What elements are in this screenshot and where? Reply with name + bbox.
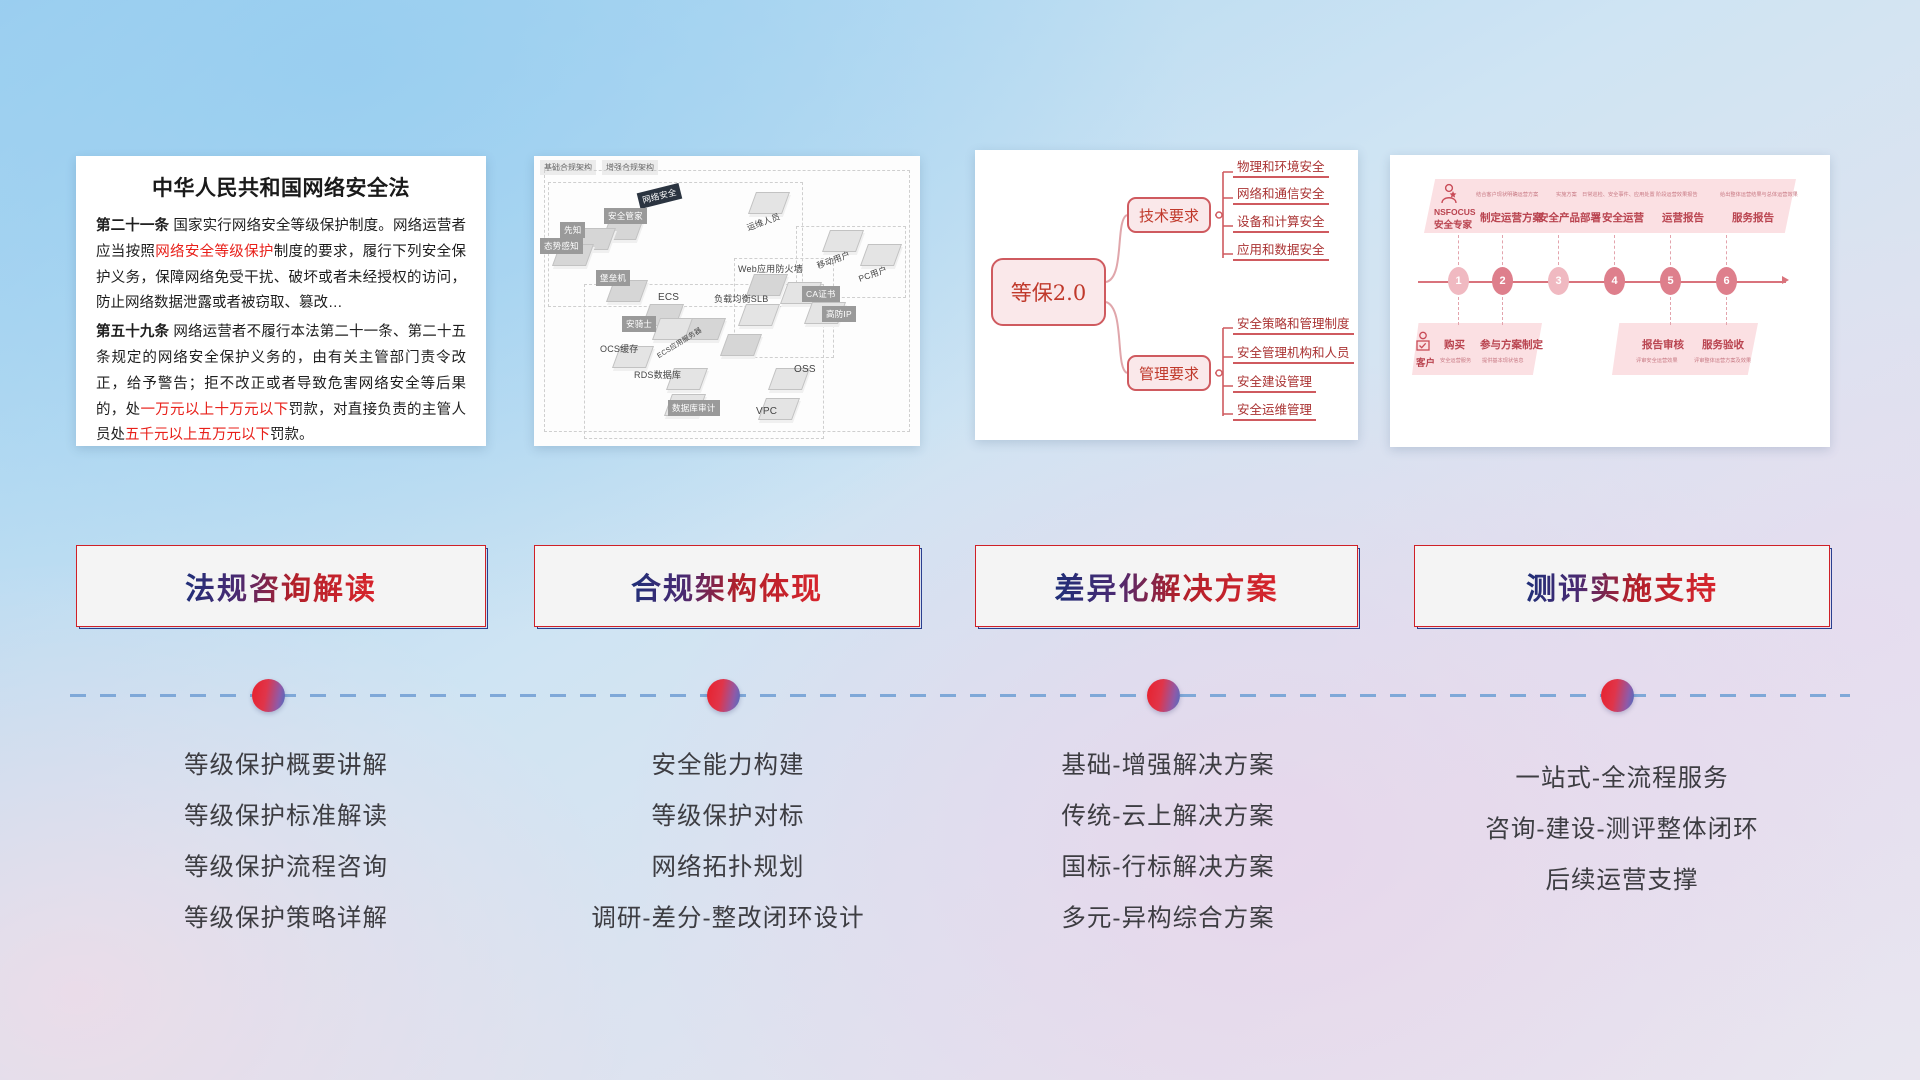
- timeline-step-dot-5[interactable]: 5: [1660, 267, 1681, 295]
- mindmap-leaf-mgmt-2[interactable]: 安全管理机构和人员: [1233, 342, 1354, 364]
- mindmap-root[interactable]: 等保2.0: [991, 258, 1106, 326]
- feature-item: 后续运营支撑: [1406, 855, 1838, 906]
- connector-3: [1558, 235, 1559, 265]
- article-59-highlight-a: 一万元以上十万元以下: [140, 402, 288, 418]
- bottom-item-2-sub: 提供基本现状信息: [1482, 357, 1524, 364]
- card-service-timeline[interactable]: NSFOCUS 安全专家 结合客户现状明确运营方案 制定运营方案 实施方案 安全…: [1390, 155, 1830, 447]
- feature-columns: 等级保护概要讲解 等级保护标准解读 等级保护流程咨询 等级保护策略详解 安全能力…: [0, 740, 1920, 1040]
- node-label-waf: Web应用防火墙: [734, 260, 807, 277]
- article-21-highlight: 网络安全等级保护: [155, 244, 274, 260]
- node-label-security-butler: 安全管家: [604, 208, 647, 224]
- bottom-item-1-title: 购买: [1444, 337, 1465, 352]
- service-timeline-canvas: NSFOCUS 安全专家 结合客户现状明确运营方案 制定运营方案 实施方案 安全…: [1390, 155, 1830, 447]
- section-title-row: 法规咨询解读 合规架构体现 差异化解决方案 测评实施支持: [0, 545, 1920, 645]
- node-label-ecs: ECS: [654, 290, 683, 305]
- title-box-regulation-consulting[interactable]: 法规咨询解读: [76, 545, 486, 627]
- connector-b6: [1726, 297, 1727, 325]
- node-label-anqishi: 安骑士: [622, 316, 656, 332]
- node-label-vpc: VPC: [752, 404, 781, 419]
- connector-4: [1614, 235, 1615, 265]
- step-3-title: 安全产品部署: [1538, 210, 1601, 225]
- provider-name: NSFOCUS: [1434, 207, 1476, 217]
- node-label-slb: 负载均衡SLB: [710, 290, 772, 307]
- connector-6: [1726, 235, 1727, 265]
- feature-item: 传统-云上解决方案: [962, 791, 1374, 842]
- timeline-step-dot-1[interactable]: 1: [1448, 267, 1469, 295]
- timeline-step-dot-2[interactable]: 2: [1492, 267, 1513, 295]
- timeline-marker-1[interactable]: [252, 679, 285, 712]
- feature-item: 基础-增强解决方案: [962, 740, 1374, 791]
- step-3-sub: 实施方案: [1556, 191, 1577, 198]
- law-article-21: 第二十一条 国家实行网络安全等级保护制度。网络运营者应当按照网络安全等级保护制度…: [96, 214, 466, 317]
- mindmap-branch-management[interactable]: 管理要求: [1127, 355, 1211, 391]
- law-title: 中华人民共和国网络安全法: [96, 172, 466, 202]
- title-box-label-1: 法规咨询解读: [185, 564, 377, 608]
- mindmap-branch-technical[interactable]: 技术要求: [1127, 197, 1211, 233]
- node-label-ca-cert: CA证书: [802, 286, 840, 302]
- mindmap-canvas: 等保2.0 技术要求 管理要求 物理和环境安全 网络和通信安全 设备和计算安全 …: [975, 150, 1358, 440]
- feature-item: 等级保护流程咨询: [76, 842, 496, 893]
- bottom-item-2-title: 参与方案制定: [1480, 337, 1543, 352]
- timeline-arrow-icon: [1782, 276, 1789, 284]
- timeline-step-dot-4[interactable]: 4: [1604, 267, 1625, 295]
- step-5-title: 运营报告: [1662, 210, 1704, 225]
- security-expert-icon: [1438, 183, 1460, 205]
- article-59-label: 第五十九条: [96, 324, 169, 340]
- mindmap-leaf-tech-1[interactable]: 物理和环境安全: [1233, 156, 1329, 178]
- node-label-oss: OSS: [790, 362, 820, 377]
- feature-column-1: 等级保护概要讲解 等级保护标准解读 等级保护流程咨询 等级保护策略详解: [76, 740, 496, 944]
- step-2-title: 制定运营方案: [1480, 210, 1543, 225]
- article-21-label: 第二十一条: [96, 218, 169, 234]
- title-box-label-2: 合规架构体现: [631, 564, 823, 608]
- connector-1: [1458, 235, 1459, 265]
- feature-column-2: 安全能力构建 等级保护对标 网络拓扑规划 调研-差分-整改闭环设计: [528, 740, 928, 944]
- feature-item: 等级保护对标: [528, 791, 928, 842]
- step-4-title: 安全运营: [1602, 210, 1644, 225]
- timeline-dashed-line: [70, 694, 1850, 697]
- architecture-canvas: 基础合规架构 增强合规架构 网络安全 安全管家 先知 态势感知 堡垒机 运维人员…: [534, 156, 920, 446]
- feature-item: 等级保护概要讲解: [76, 740, 496, 791]
- bottom-item-1-sub: 安全运营服务: [1440, 357, 1471, 364]
- customer-role: 客户: [1416, 355, 1435, 369]
- step-6-title: 服务报告: [1732, 210, 1774, 225]
- mindmap-leaf-mgmt-1[interactable]: 安全策略和管理制度: [1233, 313, 1354, 335]
- step-6-sub: 给出整体运营结果与总体运营效果: [1720, 191, 1798, 198]
- step-4-sub: 日常巡检、安全事件、应用处置: [1582, 191, 1655, 198]
- feature-item: 国标-行标解决方案: [962, 842, 1374, 893]
- node-label-db-audit: 数据库审计: [668, 400, 720, 416]
- feature-item: 调研-差分-整改闭环设计: [528, 893, 928, 944]
- node-label-bastion-host: 堡垒机: [596, 270, 630, 286]
- card-architecture-diagram[interactable]: 基础合规架构 增强合规架构 网络安全 安全管家 先知 态势感知 堡垒机 运维人员…: [534, 156, 920, 446]
- feature-item: 安全能力构建: [528, 740, 928, 791]
- feature-item: 网络拓扑规划: [528, 842, 928, 893]
- card-mindmap[interactable]: 等保2.0 技术要求 管理要求 物理和环境安全 网络和通信安全 设备和计算安全 …: [975, 150, 1358, 440]
- article-59-text-c: 罚款。: [270, 427, 314, 443]
- connector-b2: [1502, 297, 1503, 325]
- timeline-marker-3[interactable]: [1147, 679, 1180, 712]
- law-article-59: 第五十九条 网络运营者不履行本法第二十一条、第二十五条规定的网络安全保护义务的，…: [96, 320, 466, 446]
- node-label-rds-db: RDS数据库: [630, 366, 685, 383]
- feature-column-4: 一站式-全流程服务 咨询-建设-测评整体闭环 后续运营支撑: [1406, 753, 1838, 906]
- connector-5: [1670, 235, 1671, 265]
- title-box-differentiated-solution[interactable]: 差异化解决方案: [975, 545, 1358, 627]
- preview-cards-row: 中华人民共和国网络安全法 第二十一条 国家实行网络安全等级保护制度。网络运营者应…: [0, 0, 1920, 460]
- bottom-item-3-title: 报告审核: [1642, 337, 1684, 352]
- mindmap-leaf-mgmt-3[interactable]: 安全建设管理: [1233, 371, 1316, 393]
- timeline-marker-2[interactable]: [707, 679, 740, 712]
- node-label-situational-awareness: 态势感知: [540, 238, 583, 254]
- mindmap-leaf-mgmt-4[interactable]: 安全运维管理: [1233, 399, 1316, 421]
- feature-item: 多元-异构综合方案: [962, 893, 1374, 944]
- timeline-step-dot-6[interactable]: 6: [1716, 267, 1737, 295]
- card-law-document[interactable]: 中华人民共和国网络安全法 第二十一条 国家实行网络安全等级保护制度。网络运营者应…: [76, 156, 486, 446]
- node-label-xianzhi: 先知: [560, 222, 585, 238]
- feature-column-3: 基础-增强解决方案 传统-云上解决方案 国标-行标解决方案 多元-异构综合方案: [962, 740, 1374, 944]
- provider-role: 安全专家: [1434, 217, 1472, 231]
- bottom-item-3-sub: 评审安全运营效果: [1636, 357, 1678, 364]
- connector-b5: [1670, 297, 1671, 325]
- feature-item: 咨询-建设-测评整体闭环: [1406, 804, 1838, 855]
- feature-item: 等级保护策略详解: [76, 893, 496, 944]
- timeline-marker-4[interactable]: [1601, 679, 1634, 712]
- title-box-label-4: 测评实施支持: [1526, 564, 1718, 608]
- step-5-sub: 阶段运营效果报告: [1656, 191, 1698, 198]
- bottom-item-4-sub: 评审整体运营方案及效果: [1694, 357, 1751, 364]
- feature-item: 一站式-全流程服务: [1406, 753, 1838, 804]
- connector-b1: [1458, 297, 1459, 325]
- bottom-item-4-title: 服务验收: [1702, 337, 1744, 352]
- title-box-assessment-support[interactable]: 测评实施支持: [1414, 545, 1830, 627]
- title-box-compliance-architecture[interactable]: 合规架构体现: [534, 545, 920, 627]
- node-label-anti-ddos-ip: 高防IP: [822, 306, 856, 322]
- connector-2: [1502, 235, 1503, 265]
- article-59-highlight-b: 五千元以上五万元以下: [125, 427, 270, 443]
- law-document-body: 中华人民共和国网络安全法 第二十一条 国家实行网络安全等级保护制度。网络运营者应…: [76, 156, 486, 446]
- mindmap-leaf-tech-3[interactable]: 设备和计算安全: [1233, 211, 1329, 233]
- feature-item: 等级保护标准解读: [76, 791, 496, 842]
- timeline-step-dot-3[interactable]: 3: [1548, 267, 1569, 295]
- mindmap-leaf-tech-4[interactable]: 应用和数据安全: [1233, 239, 1329, 261]
- title-box-label-3: 差异化解决方案: [1055, 564, 1279, 608]
- mindmap-leaf-tech-2[interactable]: 网络和通信安全: [1233, 183, 1329, 205]
- step-2-sub: 结合客户现状明确运营方案: [1476, 191, 1538, 198]
- customer-icon: [1414, 331, 1432, 353]
- node-label-ocs-cache: OCS缓存: [596, 340, 643, 357]
